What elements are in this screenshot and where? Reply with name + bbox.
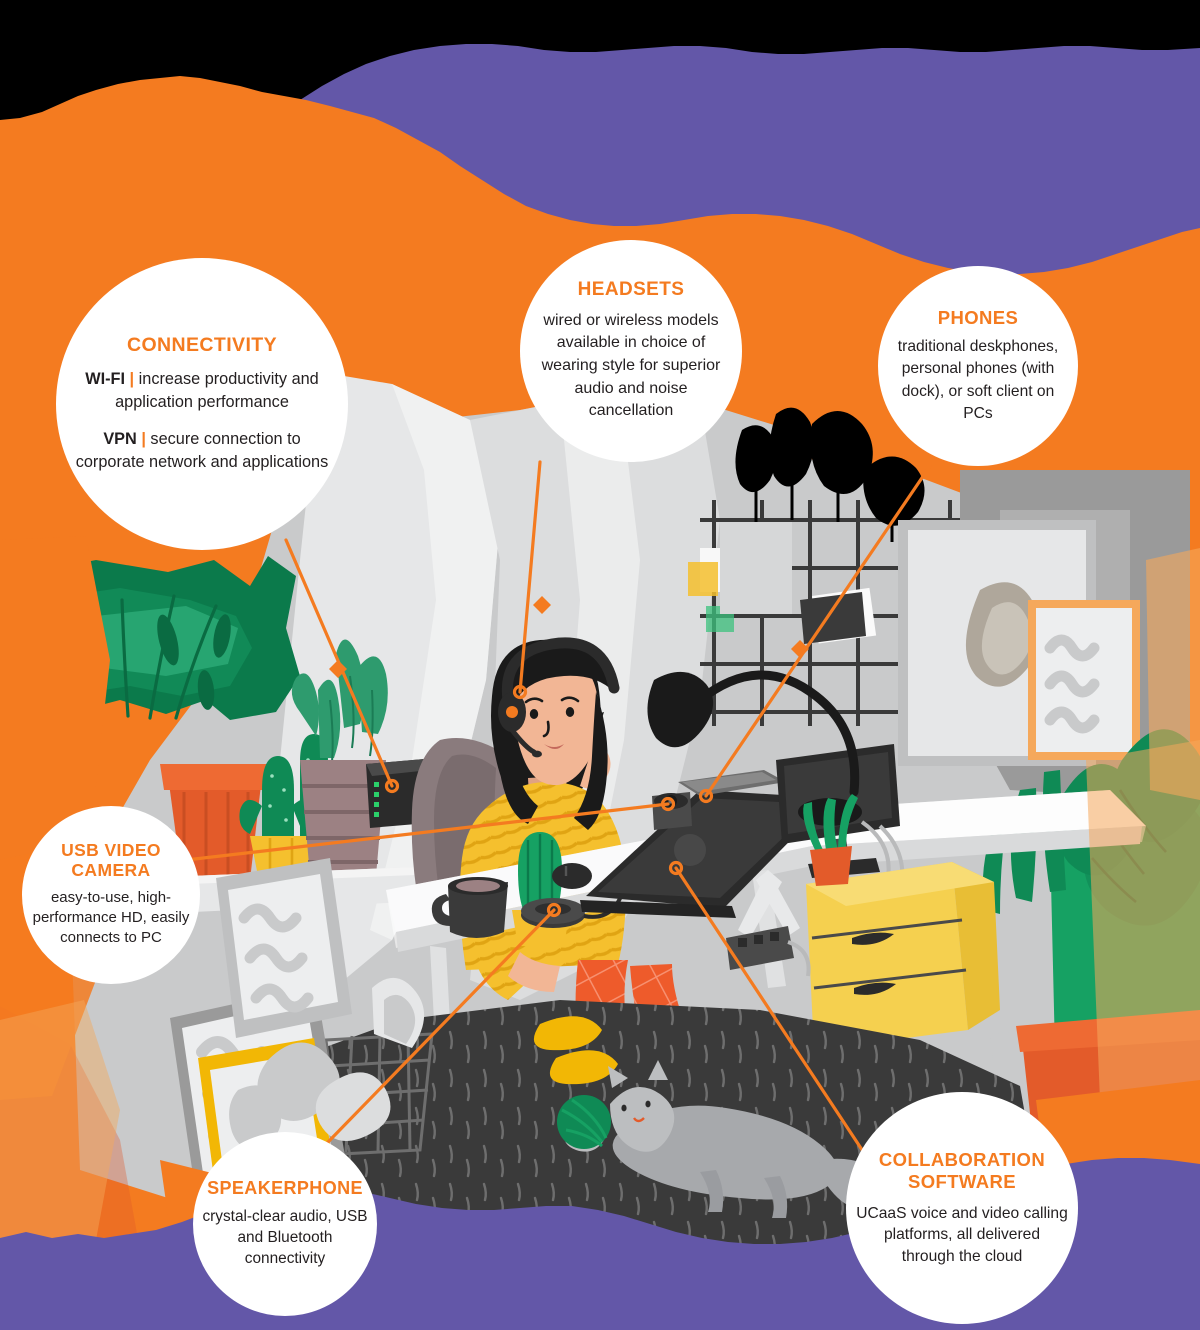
computer-mouse [552,863,592,889]
callout-title: CONNECTIVITY [127,334,277,356]
callout-body: traditional deskphones, personal phones … [888,336,1068,425]
callout-collaboration-software[interactable]: COLLABORATION SOFTWARE UCaaS voice and v… [846,1092,1078,1324]
callout-body: WI-FI | increase productivity and applic… [72,368,332,474]
callout-phones[interactable]: PHONES traditional deskphones, personal … [878,266,1078,466]
callout-title: PHONES [938,307,1019,328]
framed-art-floor-3 [216,858,352,1038]
callout-title: USB VIDEO CAMERA [30,841,192,881]
callout-body: easy-to-use, high-performance HD, easily… [30,888,192,948]
callout-usb-video-camera[interactable]: USB VIDEO CAMERA easy-to-use, high-perfo… [22,806,200,984]
callout-separator: | [141,430,146,448]
callout-body: UCaaS voice and video calling platforms,… [856,1203,1068,1268]
callout-body: wired or wireless models available in ch… [532,310,730,424]
callout-title: SPEAKERPHONE [207,1178,363,1199]
callout-headsets[interactable]: HEADSETS wired or wireless models availa… [520,240,742,462]
callout-text-wifi: increase productivity and application pe… [115,370,319,411]
callout-title: COLLABORATION SOFTWARE [856,1149,1068,1193]
callout-separator: | [130,370,135,388]
infographic-canvas: CONNECTIVITY WI-FI | increase productivi… [0,0,1200,1330]
callout-key-wifi: WI-FI [85,370,125,388]
callout-connectivity[interactable]: CONNECTIVITY WI-FI | increase productivi… [56,258,348,550]
usb-webcam [652,792,692,830]
callout-key-vpn: VPN [103,430,136,448]
yarn-ball [557,1095,611,1149]
callout-speakerphone[interactable]: SPEAKERPHONE crystal-clear audio, USB an… [193,1132,377,1316]
fg-orange-right [1086,740,1200,1120]
poster-right [1028,600,1140,760]
callout-body: crystal-clear audio, USB and Bluetooth c… [201,1207,369,1270]
callout-title: HEADSETS [578,279,685,301]
